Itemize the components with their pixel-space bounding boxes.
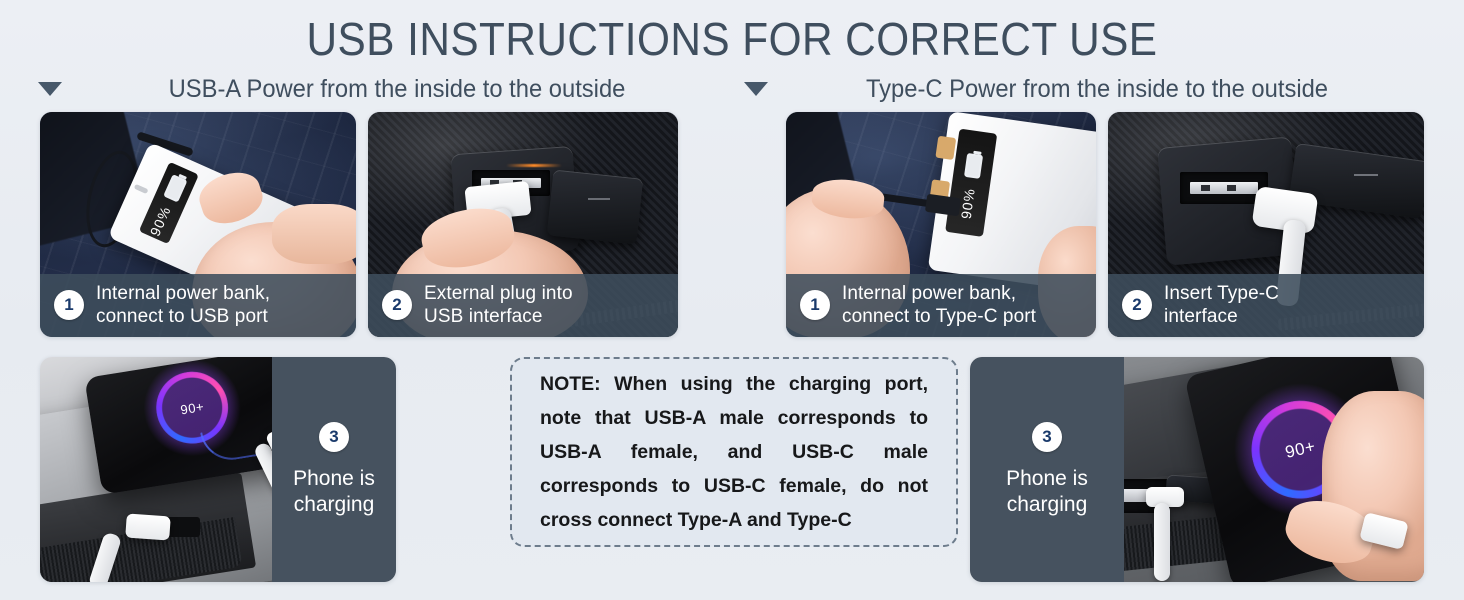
power-bank-lcd-value: 90% <box>147 204 174 239</box>
step-badge: 3 <box>1032 422 1062 452</box>
step-card-usb-a-3: 90+ 3 Phone is charging <box>40 357 396 582</box>
section-heading-type-c: Type-C Power from the inside to the outs… <box>732 72 1426 106</box>
step-badge: 2 <box>1122 290 1152 320</box>
section-headings: USB-A Power from the inside to the outsi… <box>0 72 1464 106</box>
step-badge: 1 <box>54 290 84 320</box>
power-bank-lcd-value: 90% <box>958 187 978 220</box>
step-card-type-c-2: 2 Insert Type-C interface <box>1108 112 1424 337</box>
caption-text: Insert Type-C interface <box>1164 282 1279 328</box>
section-heading-usb-a-label: USB-A Power from the inside to the outsi… <box>79 75 716 104</box>
step3-label-panel-type-c: 3 Phone is charging <box>970 357 1124 582</box>
triangle-down-icon <box>38 82 62 96</box>
triangle-down-icon <box>744 82 768 96</box>
caption-text: Internal power bank, connect to USB port <box>96 282 270 328</box>
caption-type-c-step-2: 2 Insert Type-C interface <box>1108 274 1424 337</box>
step-card-usb-a-2: 2 External plug into USB interface <box>368 112 678 337</box>
step3-text: Phone is charging <box>293 466 375 518</box>
caption-type-c-step-1: 1 Internal power bank, connect to Type-C… <box>786 274 1096 337</box>
step-card-type-c-1: 90% 1 Internal power bank, connect to Ty… <box>786 112 1096 337</box>
section-heading-usb-a: USB-A Power from the inside to the outsi… <box>38 72 732 106</box>
step-badge: 3 <box>319 422 349 452</box>
step-badge: 2 <box>382 290 412 320</box>
step-card-usb-a-1: 90% LCD Power 1 Internal power bank, con… <box>40 112 356 337</box>
note-text: NOTE: When using the charging port, note… <box>540 367 928 537</box>
caption-usb-a-step-1: 1 Internal power bank, connect to USB po… <box>40 274 356 337</box>
caption-usb-a-step-2: 2 External plug into USB interface <box>368 274 678 337</box>
caption-text: External plug into USB interface <box>424 282 573 328</box>
step-badge: 1 <box>800 290 830 320</box>
caption-text: Internal power bank, connect to Type-C p… <box>842 282 1036 328</box>
note-box: NOTE: When using the charging port, note… <box>510 357 958 547</box>
instruction-board: 90% LCD Power 1 Internal power bank, con… <box>0 112 1464 582</box>
step3-text: Phone is charging <box>1006 466 1088 518</box>
page-title: USB INSTRUCTIONS FOR CORRECT USE <box>59 0 1406 70</box>
section-heading-type-c-label: Type-C Power from the inside to the outs… <box>784 75 1409 104</box>
step3-label-panel-usb-a: 3 Phone is charging <box>272 357 396 582</box>
step-card-type-c-3: 90+ 3 Phone is charging <box>970 357 1424 582</box>
